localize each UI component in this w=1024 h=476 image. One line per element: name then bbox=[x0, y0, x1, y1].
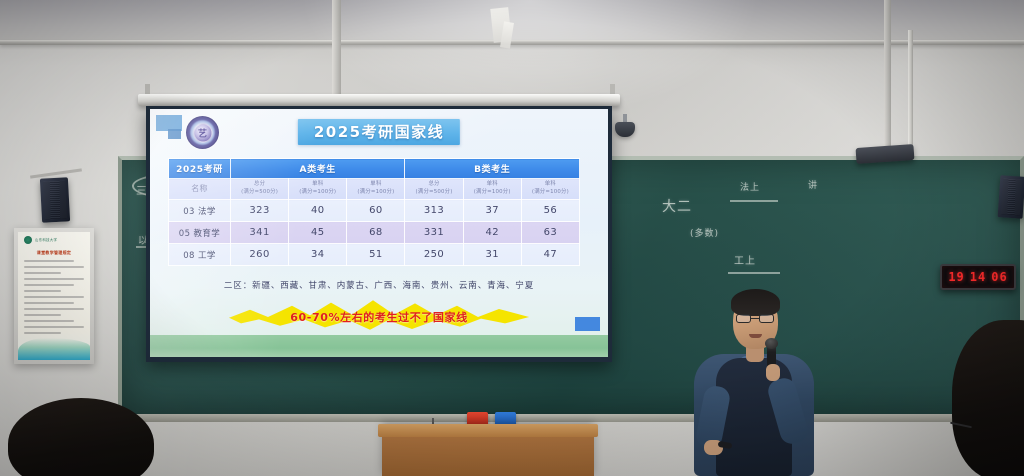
table-cell-score: 331 bbox=[405, 222, 463, 244]
presenter-mouth bbox=[749, 334, 762, 338]
slide-title-banner: 2025考研国家线 bbox=[298, 119, 460, 145]
notice-body-lines bbox=[24, 260, 84, 338]
table-subheader-cell: 单科(满分=100分) bbox=[347, 179, 405, 200]
table-cell-score: 341 bbox=[231, 222, 289, 244]
table-cell-score: 42 bbox=[463, 222, 521, 244]
table-cell-score: 34 bbox=[289, 244, 347, 266]
university-logo-glyph: 艺 bbox=[198, 126, 207, 139]
table-cell-score: 31 bbox=[463, 244, 521, 266]
th-group-b: B类考生 bbox=[405, 159, 580, 179]
clock-seconds: 06 bbox=[991, 270, 1007, 284]
glasses-bridge bbox=[751, 318, 759, 319]
chalk-rail bbox=[118, 414, 1024, 422]
chalk-writing: 讲 bbox=[808, 178, 818, 191]
th-exam-year: 2025考研 bbox=[169, 159, 231, 179]
table-cell-subject: 05 教育学 bbox=[169, 222, 231, 244]
table-cell-score: 60 bbox=[347, 200, 405, 222]
lectern-top bbox=[378, 424, 598, 437]
notice-logo-icon bbox=[24, 236, 32, 244]
slide-accent-square bbox=[168, 129, 181, 139]
projector-screen: 艺 2025考研国家线 2025考研 A类考生 B类考生 名称总分(满分=500… bbox=[146, 106, 612, 362]
table-row: 05 教育学34145683314263 bbox=[169, 222, 580, 244]
chalk-writing: (多数) bbox=[690, 226, 719, 239]
table-subheader-cell: 单科(满分=100分) bbox=[521, 179, 579, 200]
led-clock-display: 19 14 06 bbox=[940, 264, 1016, 290]
table-row: 08 工学26034512503147 bbox=[169, 244, 580, 266]
table-cell-score: 40 bbox=[289, 200, 347, 222]
table-subheader-row: 名称总分(满分=500分)单科(满分=100分)单科(满分=100分)总分(满分… bbox=[169, 179, 580, 200]
score-line-table: 2025考研 A类考生 B类考生 名称总分(满分=500分)单科(满分=100分… bbox=[168, 158, 580, 266]
table-subheader-cell: 总分(满分=500分) bbox=[231, 179, 289, 200]
table-cell-score: 63 bbox=[521, 222, 579, 244]
table-cell-score: 260 bbox=[231, 244, 289, 266]
presenter-hand-holding-mic bbox=[766, 364, 780, 381]
th-group-a: A类考生 bbox=[231, 159, 405, 179]
table-cell-score: 37 bbox=[463, 200, 521, 222]
table-cell-score: 323 bbox=[231, 200, 289, 222]
notice-brand: 山东科技大学 bbox=[35, 237, 57, 242]
slide-region-note: 二区：新疆、西藏、甘肃、内蒙古、广西、海南、贵州、云南、青海、宁夏 bbox=[150, 279, 608, 291]
wall-speaker-left bbox=[40, 177, 70, 222]
table-subheader-cell: 总分(满分=500分) bbox=[405, 179, 463, 200]
presentation-slide: 艺 2025考研国家线 2025考研 A类考生 B类考生 名称总分(满分=500… bbox=[150, 109, 608, 357]
slide-callout: 60-70%左右的考生过不了国家线 bbox=[229, 297, 529, 337]
chalk-writing: 大二 bbox=[662, 196, 692, 216]
table-cell-score: 56 bbox=[521, 200, 579, 222]
presenter bbox=[688, 282, 820, 476]
speaker-mesh bbox=[43, 180, 67, 219]
table-cell-score: 250 bbox=[405, 244, 463, 266]
notice-wave-decoration bbox=[18, 338, 90, 360]
table-subheader-cell: 名称 bbox=[169, 179, 231, 200]
wall-speaker-right bbox=[998, 175, 1024, 219]
table-cell-subject: 08 工学 bbox=[169, 244, 231, 266]
callout-text: 60-70%左右的考生过不了国家线 bbox=[229, 297, 529, 337]
chalk-writing: 工上 bbox=[734, 252, 756, 267]
glasses-icon bbox=[759, 314, 774, 323]
slide-accent-square bbox=[575, 317, 600, 331]
notice-page: 山东科技大学 课堂教学管理规定 bbox=[18, 232, 90, 360]
table-body: 名称总分(满分=500分)单科(满分=100分)单科(满分=100分)总分(满分… bbox=[169, 179, 580, 266]
microphone-head bbox=[765, 338, 778, 349]
table-row: 03 法学32340603133756 bbox=[169, 200, 580, 222]
speaker-mesh bbox=[1001, 178, 1022, 215]
table-cell-score: 47 bbox=[521, 244, 579, 266]
table-cell-score: 313 bbox=[405, 200, 463, 222]
table-subheader-cell: 单科(满分=100分) bbox=[289, 179, 347, 200]
wall-pillar-left bbox=[332, 0, 341, 105]
clock-hours: 19 bbox=[948, 270, 964, 284]
table-subheader-cell: 单科(满分=100分) bbox=[463, 179, 521, 200]
table-group-header-row: 2025考研 A类考生 B类考生 bbox=[169, 159, 580, 179]
table-cell-score: 51 bbox=[347, 244, 405, 266]
chalk-underline bbox=[730, 200, 778, 202]
table-cell-score: 45 bbox=[289, 222, 347, 244]
glasses-icon bbox=[736, 314, 751, 323]
wall-conduit bbox=[0, 40, 1024, 45]
projector-screen-roller bbox=[138, 94, 620, 106]
presenter-hair bbox=[731, 289, 780, 316]
wall-notice-board: 山东科技大学 课堂教学管理规定 bbox=[14, 228, 94, 364]
table-cell-score: 68 bbox=[347, 222, 405, 244]
table-cell-subject: 03 法学 bbox=[169, 200, 231, 222]
lecture-hall-photo: 三程X2&5半×切以人工智能机器自动大二(多数)法上工上讲 艺 2025考研国家… bbox=[0, 0, 1024, 476]
notice-title: 课堂教学管理规定 bbox=[18, 250, 90, 256]
university-logo: 艺 bbox=[186, 116, 219, 149]
clock-minutes: 14 bbox=[970, 270, 986, 284]
chalk-underline bbox=[728, 272, 780, 274]
chalk-writing: 法上 bbox=[740, 180, 760, 193]
slide-title: 2025考研国家线 bbox=[314, 123, 444, 141]
slide-bottom-strip bbox=[150, 335, 608, 357]
